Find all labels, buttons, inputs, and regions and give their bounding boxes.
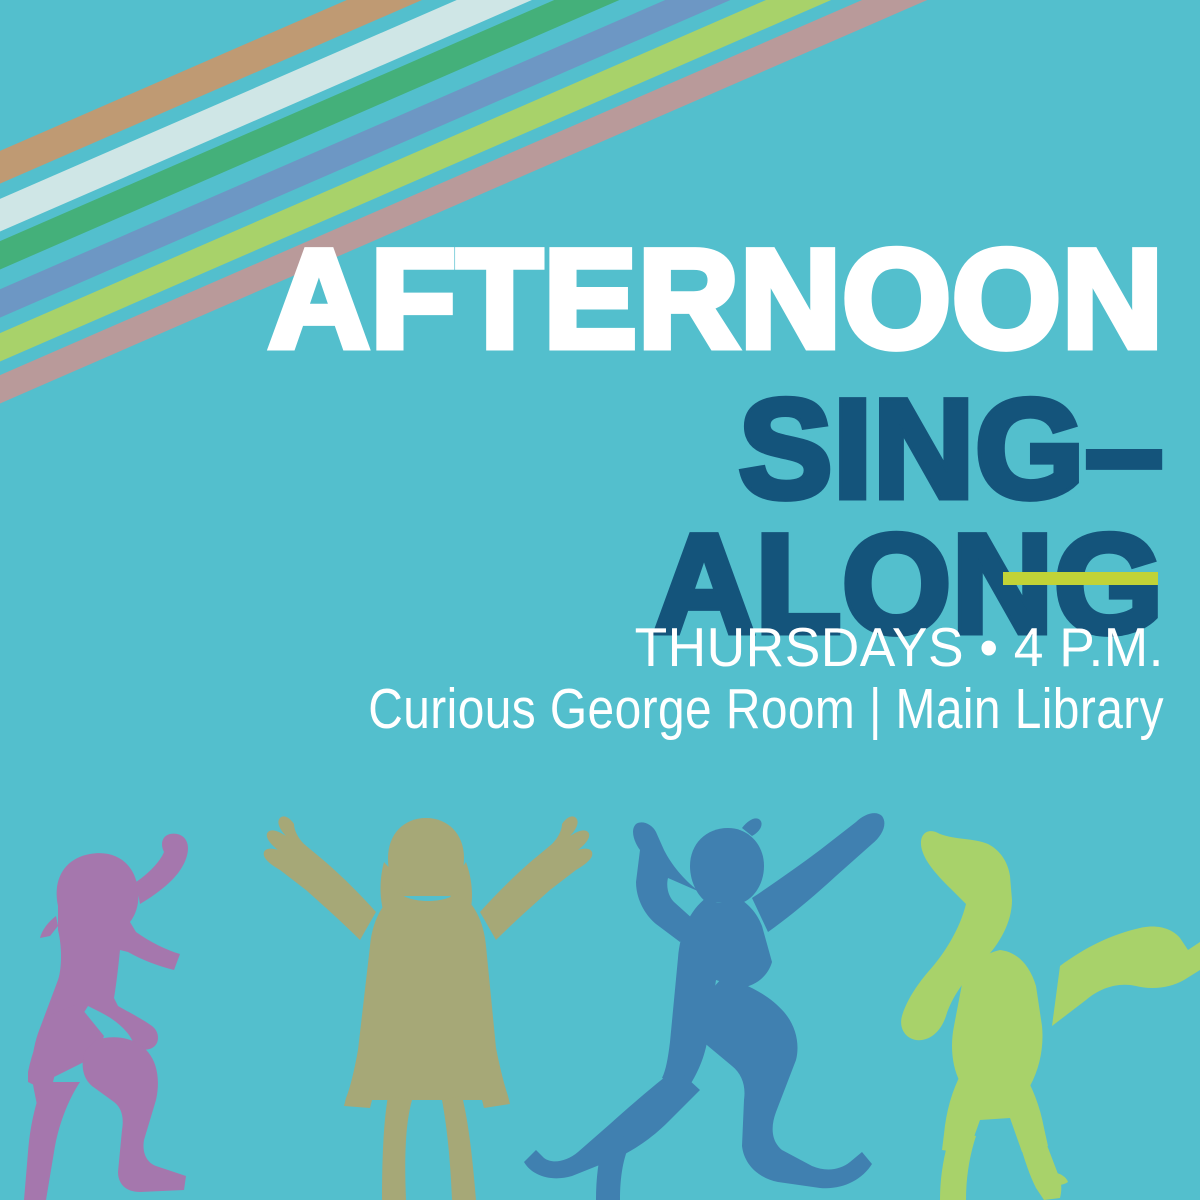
accent-rule [1003,572,1158,585]
location-line: Curious George Room | Main Library [324,677,1164,742]
details-block: THURSDAYS • 4 P.M. Curious George Room |… [164,618,1164,742]
headline-line-2: SING–ALONG [264,382,1164,651]
children-silhouettes [0,800,1200,1200]
headline-line-1: AFTERNOON [264,232,1164,366]
event-poster: AFTERNOON SING–ALONG THURSDAYS • 4 P.M. … [0,0,1200,1200]
jumping-child-silhouette [524,813,884,1200]
cartwheel-child-silhouette [901,831,1200,1200]
schedule-line: THURSDAYS • 4 P.M. [194,618,1164,677]
headline-block: AFTERNOON SING–ALONG [264,232,1164,651]
running-girl-silhouette [24,834,188,1200]
arms-raised-girl-silhouette [264,816,593,1200]
